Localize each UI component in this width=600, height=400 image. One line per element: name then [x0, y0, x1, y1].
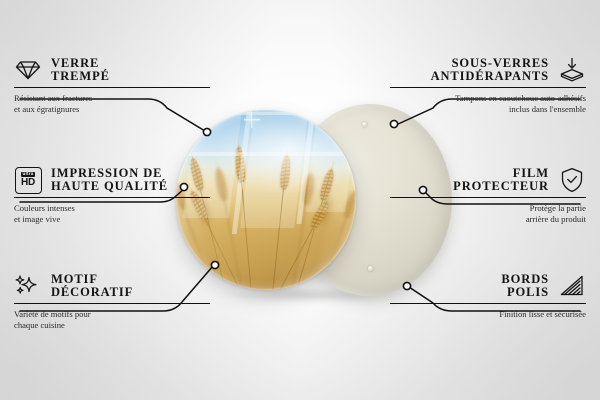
- callout-description: Finition lisse et sécurisée: [390, 309, 586, 320]
- callout-description: Tampons en caoutchouc auto-adhésifs incl…: [390, 93, 586, 116]
- callout-header: MOTIF DÉCORATIF: [14, 272, 210, 300]
- callout-title: FILM PROTECTEUR: [453, 167, 549, 194]
- callout-divider: [390, 197, 586, 198]
- feature-callout-sous-verres-antiderapants: SOUS-VERRES ANTIDÉRAPANTS Tampons en cao…: [390, 56, 586, 116]
- ultra-hd-badge-icon: ultra HD: [14, 166, 42, 194]
- callout-description: Résistant aux fractures et aux égratignu…: [14, 93, 210, 116]
- callout-description: Variété de motifs pour chaque cuisine: [14, 309, 210, 332]
- callout-divider: [390, 87, 586, 88]
- rubber-pad: [362, 122, 367, 127]
- feature-callout-motif-decoratif: MOTIF DÉCORATIF Variété de motifs pour c…: [14, 272, 210, 332]
- feature-callout-bords-polis: BORDS POLIS Finition lisse et sécurisée: [390, 272, 586, 320]
- callout-header: BORDS POLIS: [390, 272, 586, 300]
- callout-header: VERRE TREMPÉ: [14, 56, 210, 84]
- callout-description: Couleurs intenses et image vive: [14, 203, 210, 226]
- callout-header: SOUS-VERRES ANTIDÉRAPANTS: [390, 56, 586, 84]
- rubber-pad: [368, 266, 373, 271]
- callout-title: VERRE TREMPÉ: [51, 57, 110, 84]
- diamond-icon: [14, 56, 42, 84]
- feature-callout-verre-trempe: VERRE TREMPÉ Résistant aux fractures et …: [14, 56, 210, 116]
- callout-title: IMPRESSION DE HAUTE QUALITÉ: [51, 167, 168, 194]
- hd-badge-main-label: HD: [21, 178, 35, 188]
- callout-title: MOTIF DÉCORATIF: [51, 273, 133, 300]
- feature-callout-film-protecteur: FILM PROTECTEUR Protège la partie arrièr…: [390, 166, 586, 226]
- callout-divider: [14, 303, 210, 304]
- callout-header: ultra HD IMPRESSION DE HAUTE QUALITÉ: [14, 166, 210, 194]
- callout-divider: [14, 197, 210, 198]
- callout-divider: [14, 87, 210, 88]
- callout-title: SOUS-VERRES ANTIDÉRAPANTS: [431, 57, 549, 84]
- feature-callout-impression-haute-qualite: ultra HD IMPRESSION DE HAUTE QUALITÉ Cou…: [14, 166, 210, 226]
- hatched-wedge-icon: [558, 272, 586, 300]
- sparkles-icon: [14, 272, 42, 300]
- callout-header: FILM PROTECTEUR: [390, 166, 586, 194]
- arrow-onto-pad-icon: [558, 56, 586, 84]
- callout-title: BORDS POLIS: [501, 273, 549, 300]
- callout-description: Protège la partie arrière du produit: [390, 203, 586, 226]
- callout-divider: [390, 303, 586, 304]
- infographic-canvas: VERRE TREMPÉ Résistant aux fractures et …: [0, 0, 600, 400]
- shield-check-icon: [558, 166, 586, 194]
